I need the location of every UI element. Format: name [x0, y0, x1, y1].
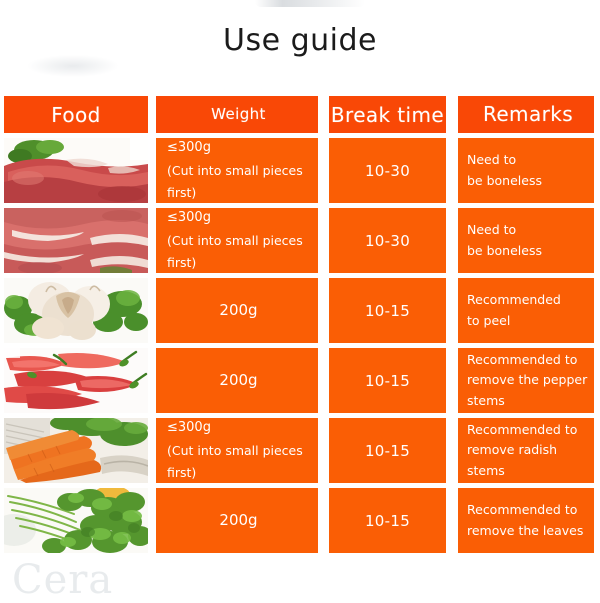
- food-cell: [4, 138, 148, 203]
- table-row: 200g 10-15 Recommended to remove the lea…: [4, 488, 594, 553]
- column-header-remarks: Remarks: [458, 96, 594, 133]
- food-cell: [4, 208, 148, 273]
- food-cell: [4, 348, 148, 413]
- remarks-line: remove the leaves: [467, 521, 583, 542]
- food-cell: [4, 418, 148, 483]
- remarks-cell: Need to be boneless: [458, 208, 594, 273]
- remarks-cell: Need to be boneless: [458, 138, 594, 203]
- weight-cell: 200g: [156, 488, 318, 553]
- weight-value: ≤300g: [167, 138, 211, 160]
- table-row: ≤300g (Cut into small pieces first) 10-3…: [4, 208, 594, 273]
- break-time-cell: 10-30: [329, 208, 446, 273]
- weight-value: 200g: [219, 367, 257, 393]
- carrot-photo: [4, 418, 148, 483]
- remarks-cell: Recommended to remove radish stems: [458, 418, 594, 483]
- weight-note: (Cut into small pieces first): [167, 230, 310, 273]
- remarks-line: remove the pepper: [467, 370, 587, 391]
- remarks-line: Recommended to: [467, 500, 577, 521]
- beef-photo: [4, 138, 148, 203]
- use-guide-table: Food Weight Break time Remarks: [4, 96, 594, 558]
- page-title: Use guide: [223, 26, 377, 56]
- remarks-cell: Recommended to remove the leaves: [458, 488, 594, 553]
- background-smudge: [28, 55, 118, 77]
- remarks-line: stems: [467, 461, 505, 482]
- column-header-weight: Weight: [156, 96, 318, 133]
- weight-cell: ≤300g (Cut into small pieces first): [156, 208, 318, 273]
- food-cell: [4, 278, 148, 343]
- break-time-cell: 10-15: [329, 418, 446, 483]
- remarks-line: to peel: [467, 311, 510, 332]
- remarks-cell: Recommended to remove the pepper stems: [458, 348, 594, 413]
- break-time-cell: 10-15: [329, 488, 446, 553]
- weight-cell: ≤300g (Cut into small pieces first): [156, 418, 318, 483]
- remarks-line: Recommended to: [467, 420, 577, 441]
- weight-value: 200g: [219, 297, 257, 323]
- remarks-line: remove radish: [467, 440, 557, 461]
- weight-value: 200g: [219, 507, 257, 533]
- remarks-line: Recommended: [467, 290, 561, 311]
- weight-note: (Cut into small pieces first): [167, 160, 310, 203]
- column-header-food: Food: [4, 96, 148, 133]
- remarks-line: Recommended to: [467, 350, 577, 371]
- table-row: 200g 10-15 Recommended to remove the pep…: [4, 348, 594, 413]
- remarks-line: be boneless: [467, 171, 542, 192]
- chili-photo: [4, 348, 148, 413]
- table-row: ≤300g (Cut into small pieces first) 10-3…: [4, 138, 594, 203]
- table-header-row: Food Weight Break time Remarks: [4, 96, 594, 133]
- pork-photo: [4, 208, 148, 273]
- column-header-break-time: Break time: [329, 96, 446, 133]
- table-row: ≤300g (Cut into small pieces first) 10-1…: [4, 418, 594, 483]
- remarks-line: Need to: [467, 150, 516, 171]
- cilantro-photo: [4, 488, 148, 553]
- remarks-cell: Recommended to peel: [458, 278, 594, 343]
- remarks-line: be boneless: [467, 241, 542, 262]
- break-time-cell: 10-15: [329, 278, 446, 343]
- weight-cell: 200g: [156, 278, 318, 343]
- weight-value: ≤300g: [167, 208, 211, 230]
- top-edge-artifact: [255, 0, 365, 7]
- page-title-container: Use guide: [0, 26, 600, 56]
- remarks-line: stems: [467, 391, 505, 412]
- remarks-line: Need to: [467, 220, 516, 241]
- weight-cell: 200g: [156, 348, 318, 413]
- garlic-photo: [4, 278, 148, 343]
- weight-note: (Cut into small pieces first): [167, 440, 310, 483]
- weight-value: ≤300g: [167, 418, 211, 440]
- food-cell: [4, 488, 148, 553]
- break-time-cell: 10-30: [329, 138, 446, 203]
- weight-cell: ≤300g (Cut into small pieces first): [156, 138, 318, 203]
- break-time-cell: 10-15: [329, 348, 446, 413]
- watermark: Cera: [12, 560, 113, 600]
- table-row: 200g 10-15 Recommended to peel: [4, 278, 594, 343]
